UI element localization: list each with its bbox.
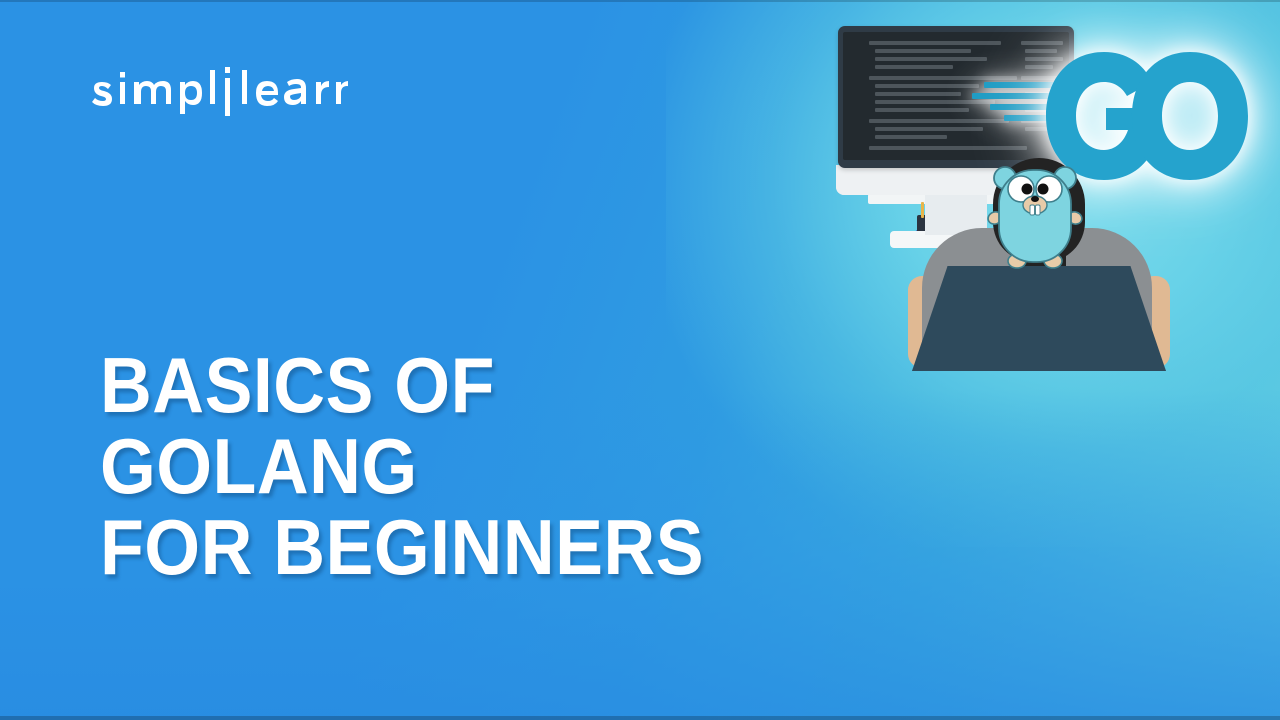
- page-title: BASICS OF GOLANG FOR BEGINNERS: [100, 345, 860, 588]
- simplilearn-logo[interactable]: [88, 58, 348, 128]
- thumbnail-canvas: BASICS OF GOLANG FOR BEGINNERS: [0, 0, 1280, 720]
- bottom-edge-line: [0, 716, 1280, 720]
- title-line-2: GOLANG: [100, 426, 799, 507]
- title-line-1: BASICS OF: [100, 345, 799, 426]
- simplilearn-wordmark-glyphs: [88, 58, 348, 128]
- title-line-3: FOR BEGINNERS: [100, 507, 799, 588]
- top-edge-line: [0, 0, 1280, 2]
- office-chair: [912, 266, 1166, 371]
- hero-illustration: [820, 18, 1260, 363]
- go-gopher-mascot: [985, 158, 1085, 270]
